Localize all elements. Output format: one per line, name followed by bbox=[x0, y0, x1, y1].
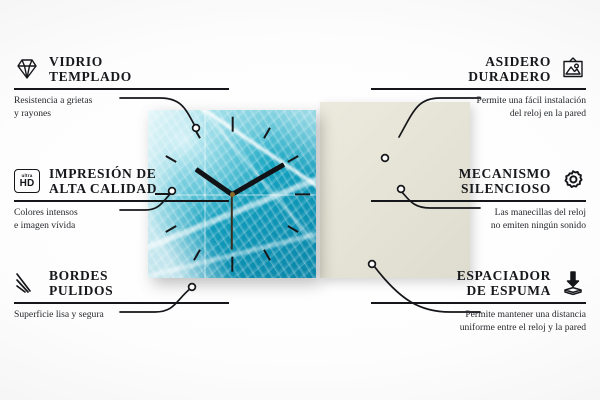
infographic-root: VIDRIO TEMPLADO Resistencia a grietas y … bbox=[0, 0, 600, 400]
clock-tick bbox=[295, 193, 310, 195]
feature-subtitle-line2: e imagen vívida bbox=[14, 220, 229, 233]
clock-tick bbox=[231, 256, 233, 271]
clock-tick bbox=[287, 225, 298, 233]
picture-frame-hanger-icon bbox=[560, 56, 586, 82]
feature-divider bbox=[14, 88, 229, 90]
feature-subtitle-line1: Superficie lisa y segura bbox=[14, 309, 229, 322]
feature-title-line2: ALTA CALIDAD bbox=[49, 181, 157, 196]
feature-divider bbox=[371, 302, 586, 304]
clock-tick bbox=[193, 128, 201, 139]
feature-subtitle-line2: no emiten ningún sonido bbox=[371, 220, 586, 233]
feature-title-line2: DURADERO bbox=[468, 69, 551, 84]
feature-title: ASIDERO DURADERO bbox=[468, 54, 551, 84]
feature-tempered-glass: VIDRIO TEMPLADO Resistencia a grietas y … bbox=[14, 54, 229, 121]
feature-silent-mechanism: MECANISMO SILENCIOSO Las manecillas del … bbox=[371, 166, 586, 233]
feature-title-line2: PULIDOS bbox=[49, 283, 113, 298]
ultra-hd-icon: ultra HD bbox=[14, 169, 40, 193]
clock-tick bbox=[231, 116, 233, 131]
feature-subtitle-line1: Las manecillas del reloj bbox=[371, 207, 586, 220]
feature-subtitle-line1: Permite una fácil instalación bbox=[371, 95, 586, 108]
feature-durable-hanger: ASIDERO DURADERO Permite una fácil insta… bbox=[371, 54, 586, 121]
feature-subtitle: Permite una fácil instalación del reloj … bbox=[371, 95, 586, 121]
feature-heading: MECANISMO SILENCIOSO bbox=[371, 166, 586, 196]
clock-tick bbox=[263, 249, 271, 260]
feature-title: VIDRIO TEMPLADO bbox=[49, 54, 132, 84]
arrow-down-layers-icon bbox=[560, 270, 586, 296]
feature-heading: VIDRIO TEMPLADO bbox=[14, 54, 229, 84]
clock-second-hand bbox=[231, 194, 233, 250]
feature-subtitle-line1: Permite mantener una distancia bbox=[371, 309, 586, 322]
feature-subtitle: Las manecillas del reloj no emiten ningú… bbox=[371, 207, 586, 233]
feature-heading: ultra HD IMPRESIÓN DE ALTA CALIDAD bbox=[14, 166, 229, 196]
clock-hub bbox=[230, 192, 235, 197]
feature-title-line2: DE ESPUMA bbox=[466, 283, 551, 298]
feature-subtitle: Resistencia a grietas y rayones bbox=[14, 95, 229, 121]
feature-subtitle-line2: uniforme entre el reloj y la pared bbox=[371, 322, 586, 335]
feature-heading: ASIDERO DURADERO bbox=[371, 54, 586, 84]
feature-title-line2: SILENCIOSO bbox=[461, 181, 551, 196]
feature-divider bbox=[14, 302, 229, 304]
feature-title: MECANISMO SILENCIOSO bbox=[459, 166, 551, 196]
clock-tick bbox=[287, 155, 298, 163]
diamond-icon bbox=[14, 56, 40, 82]
feature-title: BORDES PULIDOS bbox=[49, 268, 113, 298]
clock-tick bbox=[193, 249, 201, 260]
feature-subtitle-line2: del reloj en la pared bbox=[371, 108, 586, 121]
feature-heading: BORDES PULIDOS bbox=[14, 268, 229, 298]
feature-title-line1: VIDRIO bbox=[49, 54, 132, 69]
feature-heading: ESPACIADOR DE ESPUMA bbox=[371, 268, 586, 298]
feature-divider bbox=[14, 200, 229, 202]
feature-title-line2: TEMPLADO bbox=[49, 69, 132, 84]
feature-divider bbox=[371, 200, 586, 202]
feature-subtitle: Superficie lisa y segura bbox=[14, 309, 229, 322]
feature-title-line1: MECANISMO bbox=[459, 166, 551, 181]
feature-title: IMPRESIÓN DE ALTA CALIDAD bbox=[49, 166, 157, 196]
feature-title-line1: ASIDERO bbox=[485, 54, 551, 69]
feature-title-line1: ESPACIADOR bbox=[457, 268, 551, 283]
clock-tick bbox=[166, 155, 177, 163]
diagonal-lines-icon bbox=[14, 270, 40, 296]
feature-subtitle-line1: Resistencia a grietas bbox=[14, 95, 229, 108]
feature-subtitle: Colores intensos e imagen vívida bbox=[14, 207, 229, 233]
gear-icon bbox=[560, 168, 586, 194]
feature-polished-edges: BORDES PULIDOS Superficie lisa y segura bbox=[14, 268, 229, 322]
feature-divider bbox=[371, 88, 586, 90]
feature-title-line1: BORDES bbox=[49, 268, 113, 283]
clock-tick bbox=[263, 128, 271, 139]
feature-title: ESPACIADOR DE ESPUMA bbox=[457, 268, 551, 298]
feature-foam-spacer: ESPACIADOR DE ESPUMA Permite mantener un… bbox=[371, 268, 586, 335]
feature-hd-print: ultra HD IMPRESIÓN DE ALTA CALIDAD Color… bbox=[14, 166, 229, 233]
feature-subtitle-line1: Colores intensos bbox=[14, 207, 229, 220]
feature-title-line1: IMPRESIÓN DE bbox=[49, 166, 157, 181]
feature-subtitle: Permite mantener una distancia uniforme … bbox=[371, 309, 586, 335]
ultra-hd-hd-text: HD bbox=[20, 179, 35, 189]
feature-subtitle-line2: y rayones bbox=[14, 108, 229, 121]
